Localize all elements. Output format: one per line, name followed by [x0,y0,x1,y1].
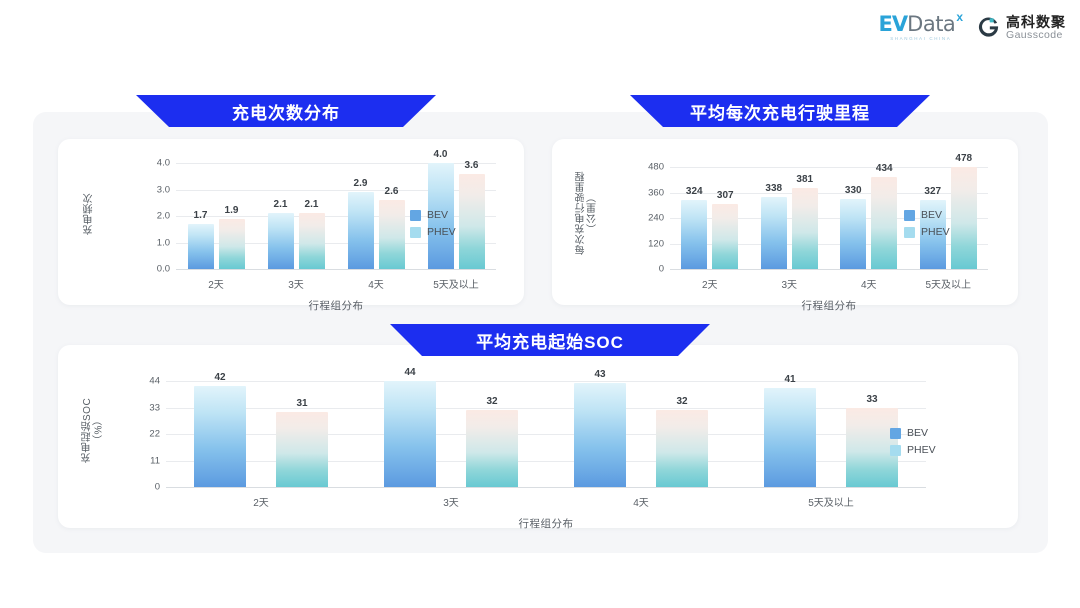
bar-charging-frequency-4天-BEV [348,192,374,269]
legend-swatch-bev-icon [890,428,901,439]
x-axis-label: 行程组分布 [802,298,857,313]
bar-avg-range-per-charge-4天-BEV [840,199,866,269]
evdata-superscript-icon: x [956,11,963,23]
x-axis-tick: 2天 [253,494,269,509]
legend-item-bev[interactable]: BEV [904,209,950,221]
legend-item-phev[interactable]: PHEV [410,226,456,238]
gridline [670,269,988,270]
x-axis-tick: 3天 [443,494,459,509]
bar-value-label: 3.6 [465,160,479,171]
chart-title-banner-avg-range-per-charge: 平均每次充电行驶里程 [630,95,930,127]
y-axis-label: 每次充电行驶里程 （公里） [576,167,599,259]
bar-charging-frequency-5天及以上-PHEV [459,174,485,269]
bar-value-label: 4.0 [434,149,448,160]
y-axis-tick: 4.0 [136,158,170,169]
bar-value-label: 32 [676,396,687,407]
bar-avg-start-soc-4天-BEV [574,383,626,487]
evdata-subtitle: shanghai china [890,37,951,42]
evdata-wordmark: EV Data x [879,14,963,35]
chart-legend: BEV PHEV [890,427,936,461]
bar-value-label: 33 [866,394,877,405]
bar-value-label: 43 [594,369,605,380]
x-axis-tick: 2天 [702,276,718,291]
legend-item-bev[interactable]: BEV [890,427,936,439]
legend-label-phev: PHEV [427,226,456,238]
chart-title-banner-avg-start-soc: 平均充电起始SOC [390,324,710,356]
bar-value-label: 32 [486,396,497,407]
x-axis-tick: 4天 [861,276,877,291]
x-axis-tick: 5天及以上 [808,494,854,509]
bar-avg-start-soc-3天-BEV [384,381,436,487]
bar-avg-range-per-charge-5天及以上-PHEV [951,167,977,269]
bar-value-label: 338 [765,183,782,194]
gridline [176,269,496,270]
legend-label-bev: BEV [427,209,448,221]
legend-swatch-phev-icon [410,227,421,238]
gausscode-g-icon [977,16,1000,39]
chart-title-banner-charging-frequency: 充电次数分布 [136,95,436,127]
chart-avg-range-per-charge: 每次充电行驶里程 （公里）01202403604803243072天338381… [552,139,1018,305]
x-axis-tick: 2天 [208,276,224,291]
bar-value-label: 478 [955,153,972,164]
y-axis-tick: 33 [126,402,160,413]
bar-value-label: 381 [796,174,813,185]
chart-legend: BEV PHEV [410,209,456,243]
x-axis-label: 行程组分布 [519,516,574,531]
bar-charging-frequency-2天-BEV [188,224,214,269]
gridline [670,167,988,168]
bar-avg-range-per-charge-4天-PHEV [871,177,897,269]
bar-value-label: 307 [717,190,734,201]
bar-value-label: 1.9 [225,205,239,216]
legend-item-phev[interactable]: PHEV [890,444,936,456]
bar-value-label: 2.9 [354,178,368,189]
bar-value-label: 2.1 [274,199,288,210]
x-axis-label: 行程组分布 [309,298,364,313]
legend-swatch-phev-icon [904,227,915,238]
bar-value-label: 31 [296,398,307,409]
chart-avg-start-soc: 充电起始SOC （%）01122334442312天44323天43324天41… [58,345,1018,528]
bar-avg-start-soc-2天-BEV [194,386,246,487]
bar-avg-start-soc-2天-PHEV [276,412,328,487]
bar-value-label: 2.6 [385,186,399,197]
legend-label-phev: PHEV [907,444,936,456]
y-axis-tick: 11 [126,455,160,466]
x-axis-tick: 5天及以上 [925,276,971,291]
y-axis-tick: 360 [630,187,664,198]
legend-item-phev[interactable]: PHEV [904,226,950,238]
y-axis-tick: 1.0 [136,237,170,248]
x-axis-tick: 4天 [368,276,384,291]
bar-value-label: 330 [845,185,862,196]
chart-title-text: 平均充电起始SOC [476,328,624,353]
y-axis-tick: 44 [126,376,160,387]
gausscode-cn-name: 高科数聚 [1006,15,1066,30]
bar-value-label: 434 [876,163,893,174]
bar-avg-start-soc-4天-PHEV [656,410,708,487]
x-axis-tick: 4天 [633,494,649,509]
bar-avg-range-per-charge-3天-PHEV [792,188,818,269]
legend-swatch-bev-icon [904,210,915,221]
y-axis-tick: 480 [630,162,664,173]
bar-value-label: 324 [686,186,703,197]
bar-charging-frequency-3天-BEV [268,213,294,269]
y-axis-tick: 240 [630,213,664,224]
y-axis-tick: 3.0 [136,184,170,195]
chart-title-text: 充电次数分布 [232,99,340,124]
bar-charging-frequency-3天-PHEV [299,213,325,269]
legend-label-bev: BEV [907,427,928,439]
bar-value-label: 44 [404,367,415,378]
y-axis-tick: 120 [630,238,664,249]
y-axis-tick: 22 [126,429,160,440]
gridline [166,381,926,382]
y-axis-tick: 0 [126,482,160,493]
gausscode-logo: 高科数聚 Gausscode [977,15,1066,41]
gausscode-text: 高科数聚 Gausscode [1006,15,1066,41]
chart-legend: BEV PHEV [904,209,950,243]
bar-value-label: 42 [214,372,225,383]
legend-swatch-phev-icon [890,445,901,456]
legend-item-bev[interactable]: BEV [410,209,456,221]
chart-title-text: 平均每次充电行驶里程 [690,99,870,124]
gausscode-en-name: Gausscode [1006,30,1066,41]
bar-avg-range-per-charge-2天-PHEV [712,204,738,269]
bar-avg-range-per-charge-2天-BEV [681,200,707,269]
bar-avg-start-soc-3天-PHEV [466,410,518,487]
y-axis-label: 充电起始SOC （%） [82,387,105,473]
gridline [166,487,926,488]
bar-avg-range-per-charge-3天-BEV [761,197,787,269]
legend-swatch-bev-icon [410,210,421,221]
evdata-word-text: Data [907,14,955,35]
x-axis-tick: 3天 [288,276,304,291]
legend-label-bev: BEV [921,209,942,221]
bar-charging-frequency-4天-PHEV [379,200,405,269]
bar-avg-start-soc-5天及以上-BEV [764,388,816,487]
bar-charging-frequency-2天-PHEV [219,219,245,269]
bar-value-label: 41 [784,374,795,385]
evdata-logo: EV Data x shanghai china [879,14,963,42]
logo-bar: EV Data x shanghai china 高科数聚 Gausscode [879,14,1066,42]
bar-value-label: 2.1 [305,199,319,210]
y-axis-tick: 0.0 [136,264,170,275]
y-axis-tick: 0 [630,264,664,275]
y-axis-tick: 2.0 [136,211,170,222]
x-axis-tick: 5天及以上 [433,276,479,291]
y-axis-label: 充电频次 [84,179,96,249]
x-axis-tick: 3天 [781,276,797,291]
evdata-mark-text: EV [879,14,908,35]
legend-label-phev: PHEV [921,226,950,238]
bar-value-label: 1.7 [194,210,208,221]
chart-charging-frequency: 充电频次0.01.02.03.04.01.71.92天2.12.13天2.92.… [58,139,524,305]
bar-value-label: 327 [924,186,941,197]
